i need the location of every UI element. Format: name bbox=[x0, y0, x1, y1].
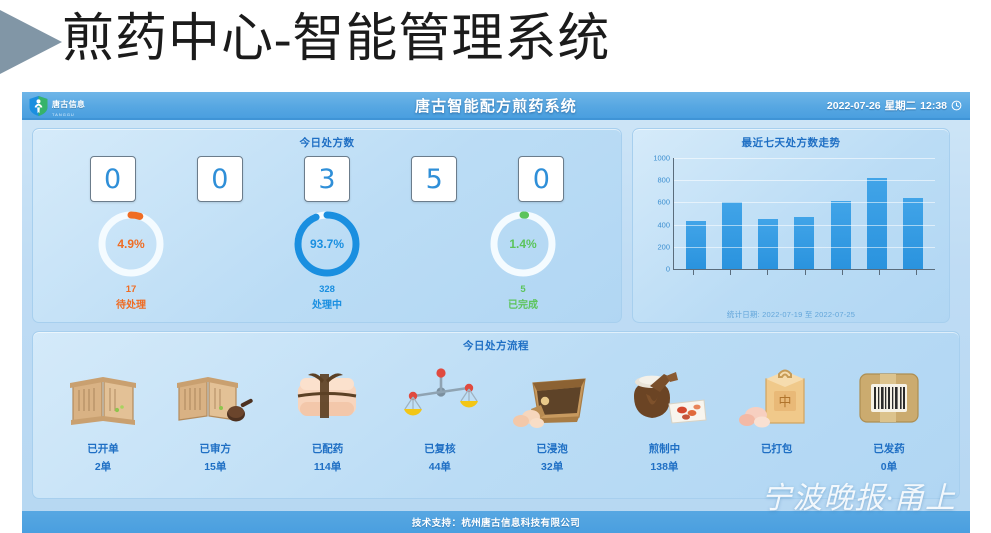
flow-item-label: 已浸泡 bbox=[496, 441, 608, 456]
chart-y-tick-label: 800 bbox=[657, 176, 670, 185]
page-title: 煎药中心-智能管理系统 bbox=[62, 6, 610, 74]
gauge-percent: 1.4% bbox=[487, 237, 559, 251]
gauge-ring: 93.7% bbox=[291, 208, 363, 280]
gauge-percent: 93.7% bbox=[291, 237, 363, 251]
gauge-ring: 4.9% bbox=[95, 208, 167, 280]
status-gauge: 4.9%17待处理 bbox=[56, 208, 206, 311]
teapot-icon bbox=[608, 357, 720, 439]
chart-gridline bbox=[674, 225, 935, 226]
flow-item-count: 32单 bbox=[496, 459, 608, 474]
chart-x-tick bbox=[730, 270, 731, 275]
chart-y-tick-label: 600 bbox=[657, 198, 670, 207]
chart-gridline bbox=[674, 202, 935, 203]
flow-item-label: 已开单 bbox=[47, 441, 159, 456]
flow-item-count: 15单 bbox=[159, 459, 271, 474]
gauge-label: 待处理 bbox=[56, 296, 206, 311]
chart-bar bbox=[758, 219, 778, 269]
herb-bundle-icon bbox=[272, 357, 384, 439]
chart-bars bbox=[678, 158, 931, 269]
flow-item-count: 0单 bbox=[833, 459, 945, 474]
prescription-digit-box: 3 bbox=[304, 156, 350, 202]
app-window: 唐古信息 TANGGU 唐古智能配方煎药系统 2022-07-26 星期二 12… bbox=[22, 92, 970, 533]
flow-item-label: 已配药 bbox=[272, 441, 384, 456]
flow-item-label: 已审方 bbox=[159, 441, 271, 456]
flow-item-count: 138单 bbox=[608, 459, 720, 474]
gauge-percent: 4.9% bbox=[95, 237, 167, 251]
chart-y-tick-label: 1000 bbox=[653, 154, 670, 163]
today-prescription-stats-panel: 今日处方数 00350 4.9%17待处理93.7%328处理中1.4%5已完成 bbox=[32, 128, 622, 323]
current-time: 12:38 bbox=[920, 100, 947, 112]
chart-footnote: 统计日期: 2022-07-19 至 2022-07-25 bbox=[633, 309, 949, 320]
chart-gridline bbox=[674, 247, 935, 248]
flow-item-count: 114单 bbox=[272, 459, 384, 474]
current-weekday: 星期二 bbox=[885, 98, 917, 113]
clock-icon bbox=[951, 100, 962, 111]
flow-panel-title: 今日处方流程 bbox=[33, 332, 959, 353]
chart-title: 最近七天处方数走势 bbox=[633, 129, 949, 150]
stats-panel-title: 今日处方数 bbox=[33, 129, 621, 150]
flow-item-count: 44单 bbox=[384, 459, 496, 474]
gauge-ring: 1.4% bbox=[487, 208, 559, 280]
gauge-label: 处理中 bbox=[252, 296, 402, 311]
gauge-count: 17 bbox=[56, 284, 206, 295]
chart-x-tick bbox=[693, 270, 694, 275]
flow-item[interactable]: 已开单2单 bbox=[47, 357, 159, 474]
flow-item[interactable]: 已配药114单 bbox=[272, 357, 384, 474]
weekly-trend-panel: 最近七天处方数走势 02004006008001000 统计日期: 2022-0… bbox=[632, 128, 950, 323]
soak-bucket-icon bbox=[496, 357, 608, 439]
flow-item[interactable]: 煎制中138单 bbox=[608, 357, 720, 474]
svg-text:中: 中 bbox=[778, 395, 791, 410]
chart-x-tick bbox=[916, 270, 917, 275]
flow-item[interactable]: 已审方15单 bbox=[159, 357, 271, 474]
prescription-digit-box: 0 bbox=[518, 156, 564, 202]
flow-item[interactable]: 已浸泡32单 bbox=[496, 357, 608, 474]
package-box-icon: 中 bbox=[721, 357, 833, 439]
prescription-digit-box: 5 bbox=[411, 156, 457, 202]
flow-item-row: 已开单2单已审方15单已配药114单已复核44单已浸泡32单煎制中138单中已打… bbox=[33, 353, 959, 474]
status-gauge: 1.4%5已完成 bbox=[448, 208, 598, 311]
chart-x-tick bbox=[879, 270, 880, 275]
chart-x-tick bbox=[767, 270, 768, 275]
flow-item[interactable]: 中已打包 bbox=[721, 357, 833, 474]
arrow-decoration-icon bbox=[0, 6, 66, 78]
prescription-digit-row: 00350 bbox=[33, 150, 621, 202]
current-date: 2022-07-26 bbox=[827, 100, 881, 112]
book-stamp-icon bbox=[159, 357, 271, 439]
app-footer: 技术支持：杭州唐古信息科技有限公司 bbox=[22, 511, 970, 533]
gauge-count: 328 bbox=[252, 284, 402, 295]
flow-item-label: 已复核 bbox=[384, 441, 496, 456]
balance-scale-icon bbox=[384, 357, 496, 439]
chart-x-tick bbox=[842, 270, 843, 275]
flow-item[interactable]: 已复核44单 bbox=[384, 357, 496, 474]
chart-bar bbox=[722, 202, 742, 269]
flow-item-label: 已发药 bbox=[833, 441, 945, 456]
slide-page: 煎药中心-智能管理系统 唐古信息 TANGGU bbox=[0, 0, 991, 533]
status-gauge-row: 4.9%17待处理93.7%328处理中1.4%5已完成 bbox=[33, 208, 621, 311]
chart-gridline bbox=[674, 158, 935, 159]
chart-plot-area: 02004006008001000 bbox=[673, 158, 935, 270]
datetime-display: 2022-07-26 星期二 12:38 bbox=[827, 98, 962, 113]
gauge-label: 已完成 bbox=[448, 296, 598, 311]
today-flow-panel: 今日处方流程 已开单2单已审方15单已配药114单已复核44单已浸泡32单煎制中… bbox=[32, 331, 960, 499]
barcode-parcel-icon bbox=[833, 357, 945, 439]
prescription-digit-box: 0 bbox=[197, 156, 243, 202]
open-book-icon bbox=[47, 357, 159, 439]
bar-chart: 02004006008001000 bbox=[641, 152, 941, 292]
status-gauge: 93.7%328处理中 bbox=[252, 208, 402, 311]
chart-y-tick-label: 0 bbox=[666, 265, 670, 274]
chart-bar bbox=[867, 178, 887, 269]
app-body: 今日处方数 00350 4.9%17待处理93.7%328处理中1.4%5已完成… bbox=[22, 120, 970, 499]
chart-gridline bbox=[674, 180, 935, 181]
flow-item[interactable]: 已发药0单 bbox=[833, 357, 945, 474]
app-header: 唐古信息 TANGGU 唐古智能配方煎药系统 2022-07-26 星期二 12… bbox=[22, 92, 970, 120]
prescription-digit-box: 0 bbox=[90, 156, 136, 202]
chart-bar bbox=[831, 201, 851, 269]
chart-y-tick-label: 200 bbox=[657, 242, 670, 251]
chart-bar bbox=[903, 198, 923, 269]
chart-x-tick bbox=[805, 270, 806, 275]
flow-item-count: 2单 bbox=[47, 459, 159, 474]
flow-item-label: 煎制中 bbox=[608, 441, 720, 456]
chart-y-tick-label: 400 bbox=[657, 220, 670, 229]
gauge-count: 5 bbox=[448, 284, 598, 295]
flow-item-label: 已打包 bbox=[721, 441, 833, 456]
chart-bar bbox=[686, 221, 706, 269]
